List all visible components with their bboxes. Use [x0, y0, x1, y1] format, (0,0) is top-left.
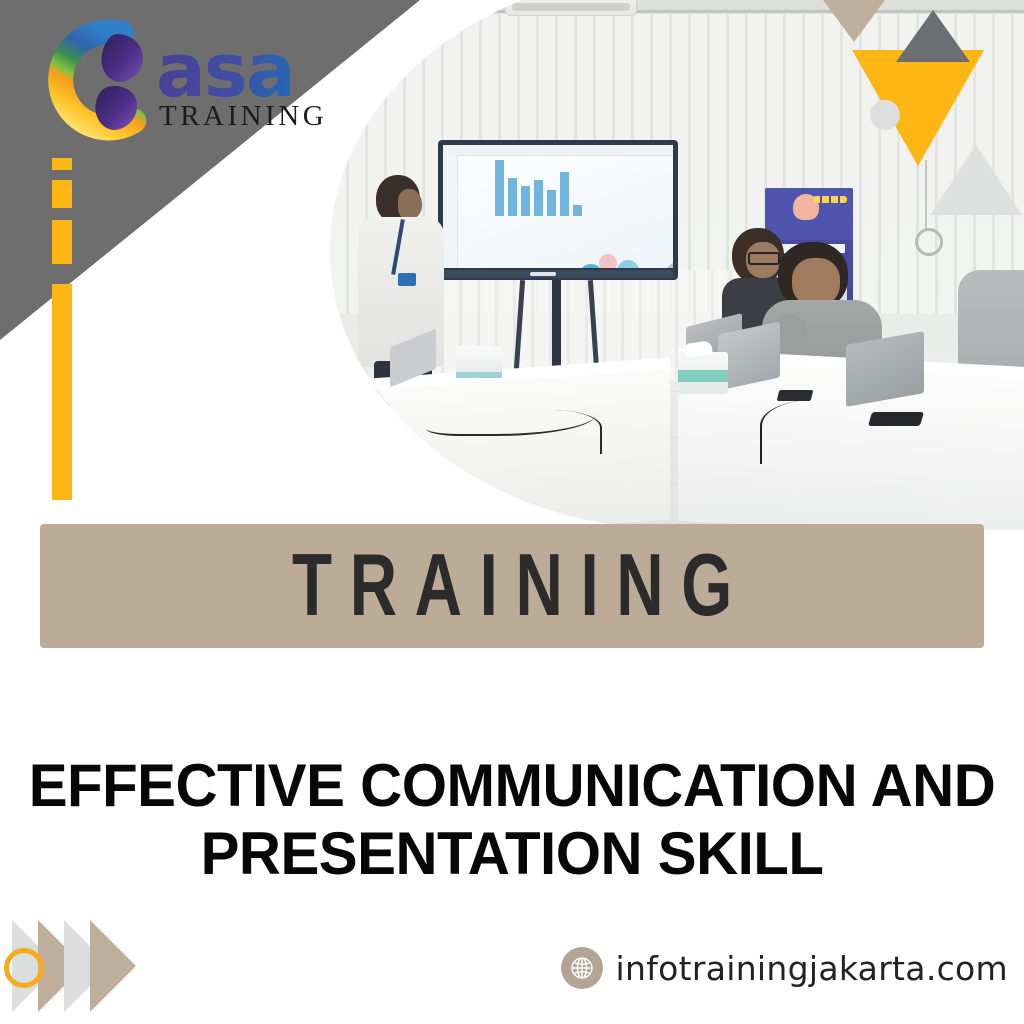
brand-logo[interactable]: asa TRAINING: [28, 16, 328, 156]
pendant-ring: [915, 228, 943, 256]
poster-canvas: 01 02: [0, 0, 1024, 1024]
floor-cable-2: [480, 410, 602, 454]
logo-wordmark: asa: [156, 40, 356, 104]
globe-icon: [561, 947, 603, 989]
circular-swoosh-icon: [28, 16, 160, 148]
display-toolbar: [443, 145, 673, 156]
dash-segment-3: [52, 220, 72, 264]
tan-inverted-triangle-icon: [798, 0, 910, 42]
orange-ring-icon: [4, 948, 44, 988]
screen-bar-chart: [495, 160, 582, 216]
grey-triangle-icon: [896, 10, 970, 62]
display-screen: [443, 145, 673, 268]
pendant-wire: [925, 160, 927, 230]
dash-segment-2: [52, 180, 72, 208]
grey-circle-icon: [870, 100, 900, 130]
chevron-4: [90, 920, 136, 1012]
display-bottom-bar: [443, 270, 673, 278]
presenter-badge: [398, 273, 416, 286]
dash-segment-4: [52, 284, 72, 500]
dash-segment-1: [52, 158, 72, 170]
display-sidebar: [443, 155, 458, 268]
presentation-display: [438, 140, 678, 280]
page-title: EFFECTIVE COMMUNICATION AND PRESENTATION…: [0, 752, 1024, 889]
page-title-line-1: EFFECTIVE COMMUNICATION AND: [15, 752, 1008, 820]
light-grey-triangle-icon: [930, 145, 1022, 215]
air-conditioner: [505, 0, 637, 16]
logo-subtitle: TRAINING: [156, 100, 356, 133]
brand-logo-text: asa TRAINING: [156, 40, 356, 133]
website-footer[interactable]: infotrainingjakarta.com: [561, 944, 1008, 992]
training-banner: TRAINING: [40, 524, 984, 648]
tissue-box-band: [678, 370, 728, 382]
tissue-box-left: [456, 346, 502, 378]
rollup-dots: [813, 196, 847, 203]
presenter-face: [398, 189, 422, 219]
website-url[interactable]: infotrainingjakarta.com: [616, 949, 1008, 988]
attendee-front-face: [792, 258, 840, 306]
floor-cable-3: [760, 400, 892, 464]
page-title-line-2: PRESENTATION SKILL: [15, 820, 1008, 888]
training-banner-label: TRAINING: [274, 535, 749, 637]
